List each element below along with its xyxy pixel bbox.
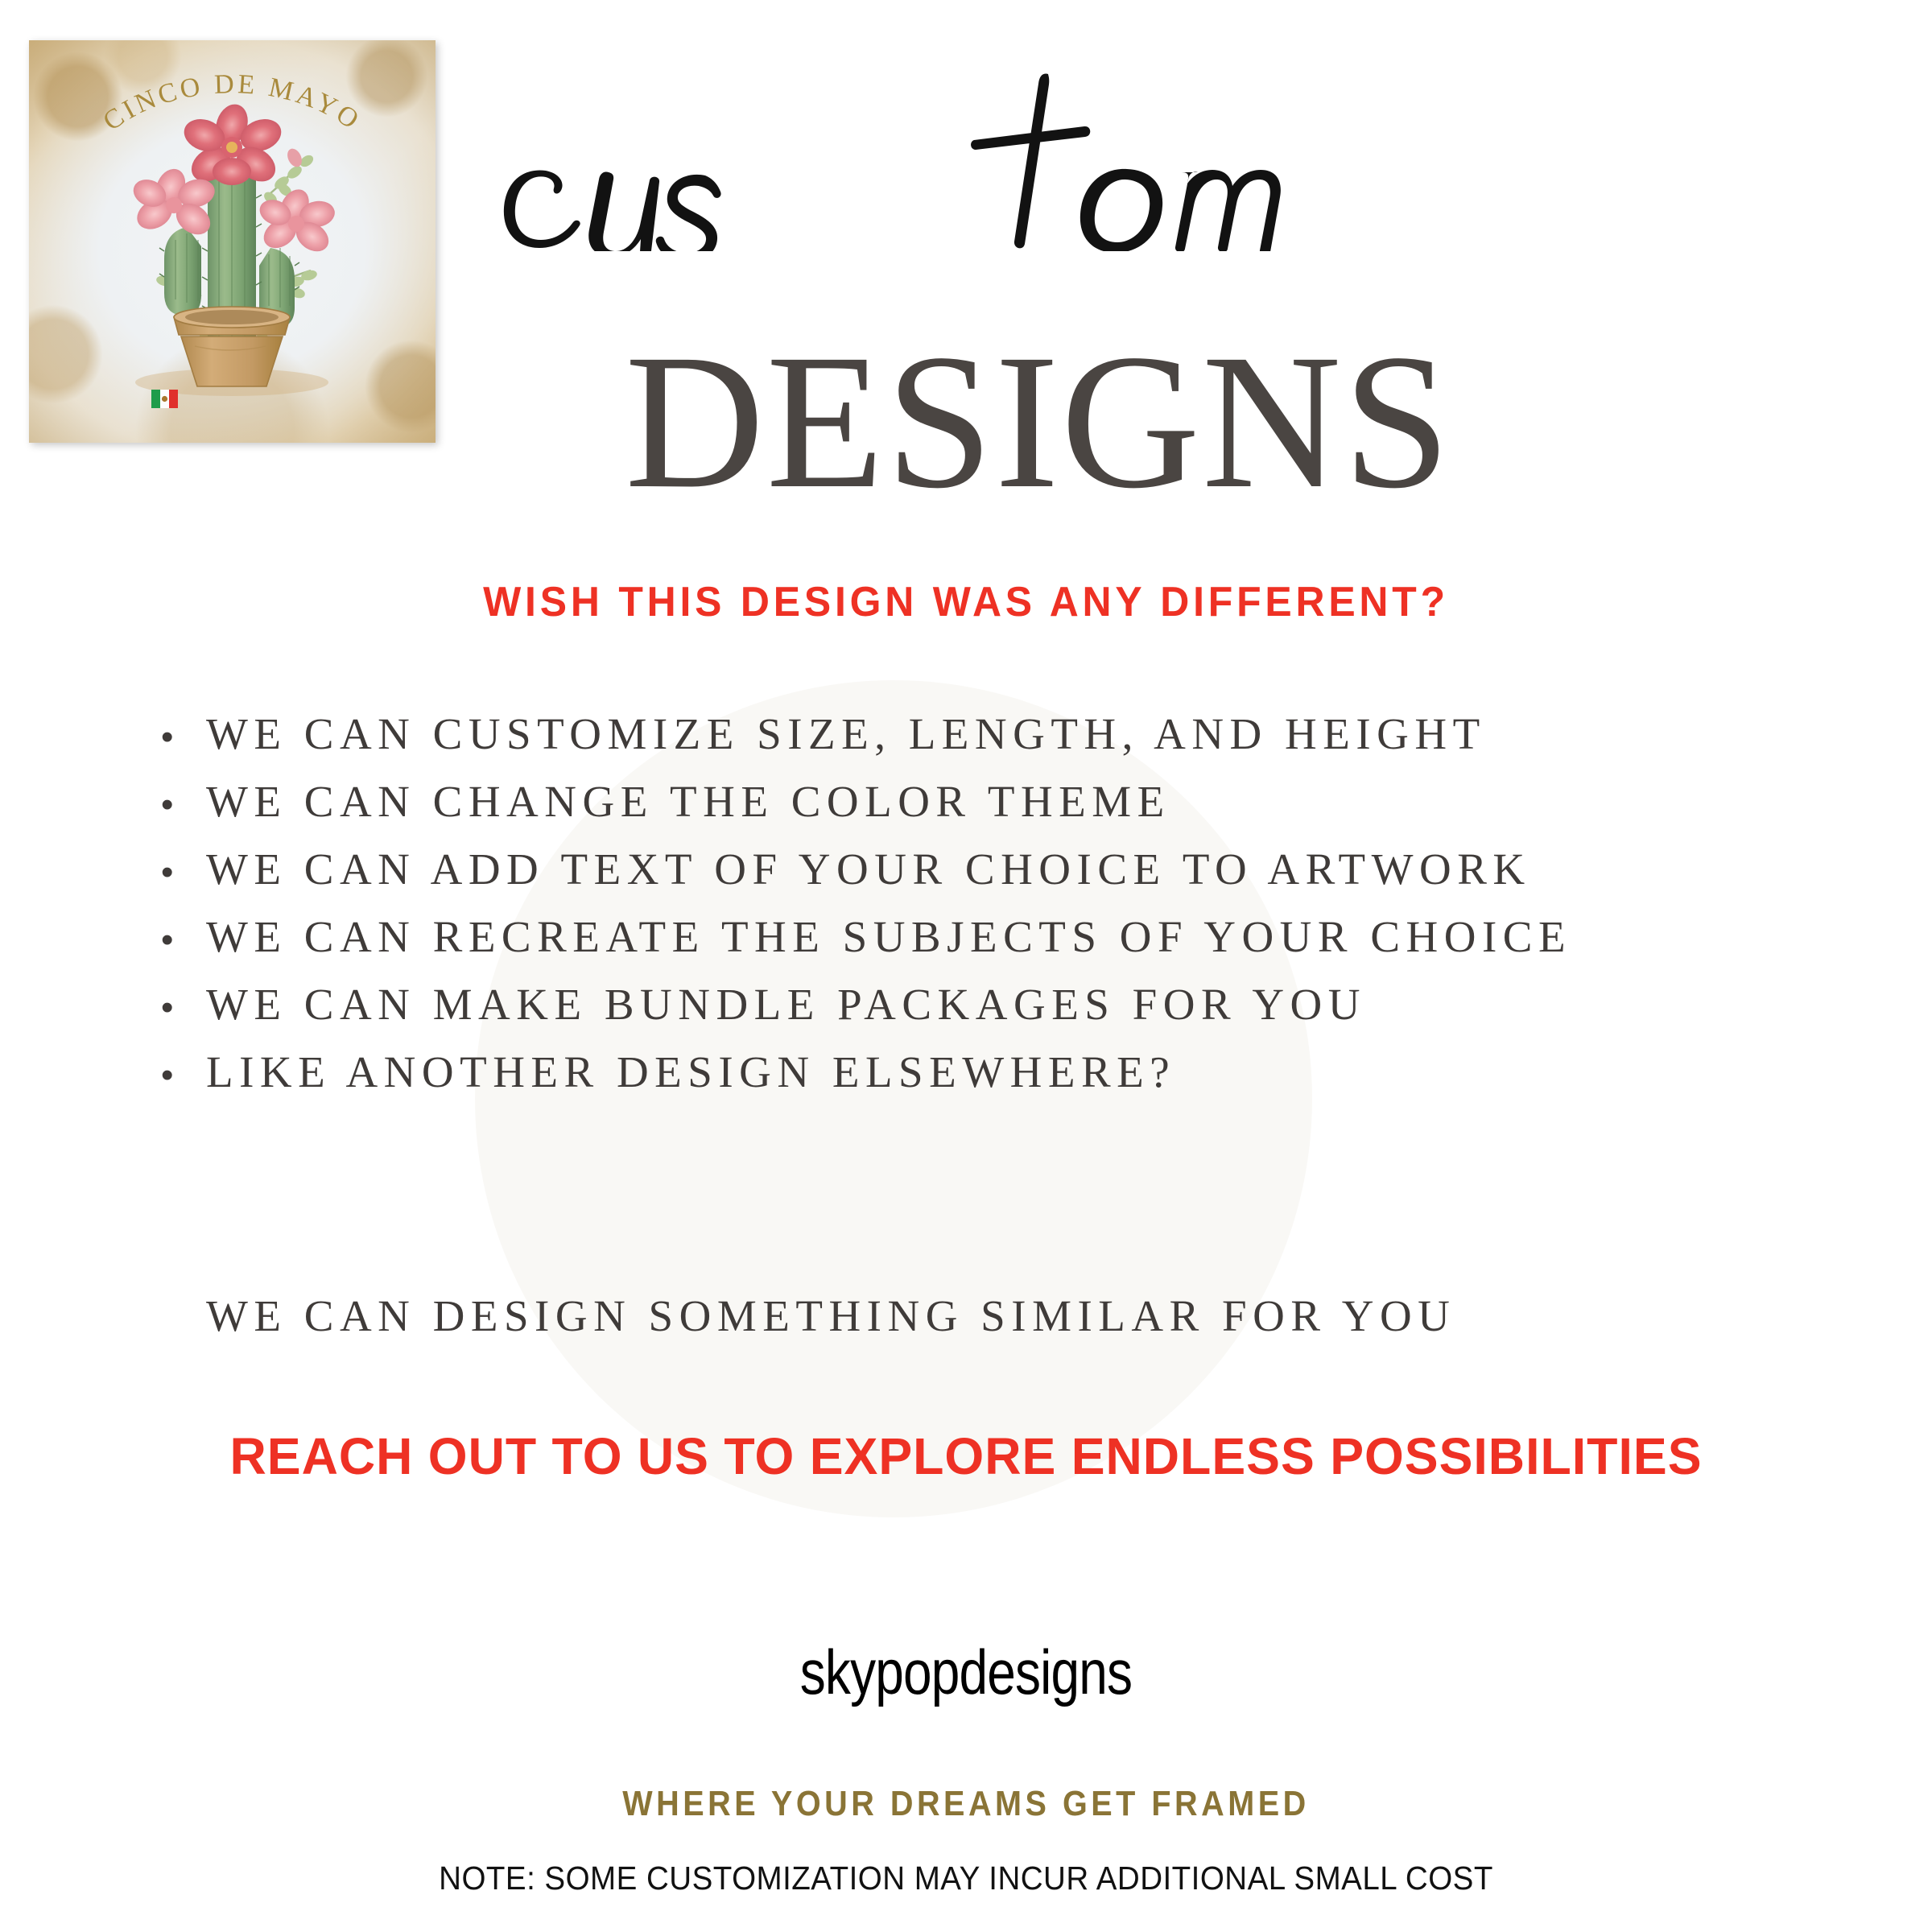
cactus-flower-top [180, 100, 286, 188]
mexican-flag-icon [151, 390, 178, 408]
bullet-icon: • [161, 1058, 206, 1093]
subtitle-question: WISH THIS DESIGN WAS ANY DIFFERENT? [39, 578, 1893, 626]
footer-note: NOTE: SOME CUSTOMIZATION MAY INCUR ADDIT… [58, 1860, 1874, 1897]
list-item: • WE CAN MAKE BUNDLE PACKAGES FOR YOU [161, 979, 1835, 1046]
list-item: • LIKE ANOTHER DESIGN ELSEWHERE? [161, 1046, 1835, 1114]
cactus-illustration [29, 40, 436, 443]
brand-tagline: WHERE YOUR DREAMS GET FRAMED [97, 1784, 1835, 1824]
bullet-icon: • [161, 855, 206, 890]
list-item: • WE CAN RECREATE THE SUBJECTS OF YOUR C… [161, 911, 1835, 979]
brand-name: skypopdesigns [174, 1636, 1758, 1709]
list-item-label: WE CAN CHANGE THE COLOR THEME [206, 776, 1170, 827]
product-thumbnail[interactable]: CINCO DE MAYO [29, 40, 436, 443]
bullet-icon: • [161, 787, 206, 823]
bullet-icon: • [161, 923, 206, 958]
cta-line[interactable]: REACH OUT TO US TO EXPLORE ENDLESS POSSI… [19, 1426, 1913, 1486]
list-item-label: LIKE ANOTHER DESIGN ELSEWHERE? [206, 1046, 1175, 1097]
list-item: • WE CAN ADD TEXT OF YOUR CHOICE TO ARTW… [161, 844, 1835, 911]
list-item-label: WE CAN RECREATE THE SUBJECTS OF YOUR CHO… [206, 911, 1571, 962]
list-item: • WE CAN CUSTOMIZE SIZE, LENGTH, AND HEI… [161, 708, 1835, 776]
list-item-label: WE CAN ADD TEXT OF YOUR CHOICE TO ARTWOR… [206, 844, 1531, 894]
custom-script-heading [451, 50, 1288, 251]
list-item: • WE CAN CHANGE THE COLOR THEME [161, 776, 1835, 844]
benefits-continuation: WE CAN DESIGN SOMETHING SIMILAR FOR YOU [206, 1290, 1455, 1341]
list-item-label: WE CAN CUSTOMIZE SIZE, LENGTH, AND HEIGH… [206, 708, 1486, 759]
bullet-icon: • [161, 990, 206, 1026]
benefits-list: • WE CAN CUSTOMIZE SIZE, LENGTH, AND HEI… [161, 708, 1835, 1114]
bullet-icon: • [161, 720, 206, 755]
list-item-label: WE CAN MAKE BUNDLE PACKAGES FOR YOU [206, 979, 1366, 1030]
